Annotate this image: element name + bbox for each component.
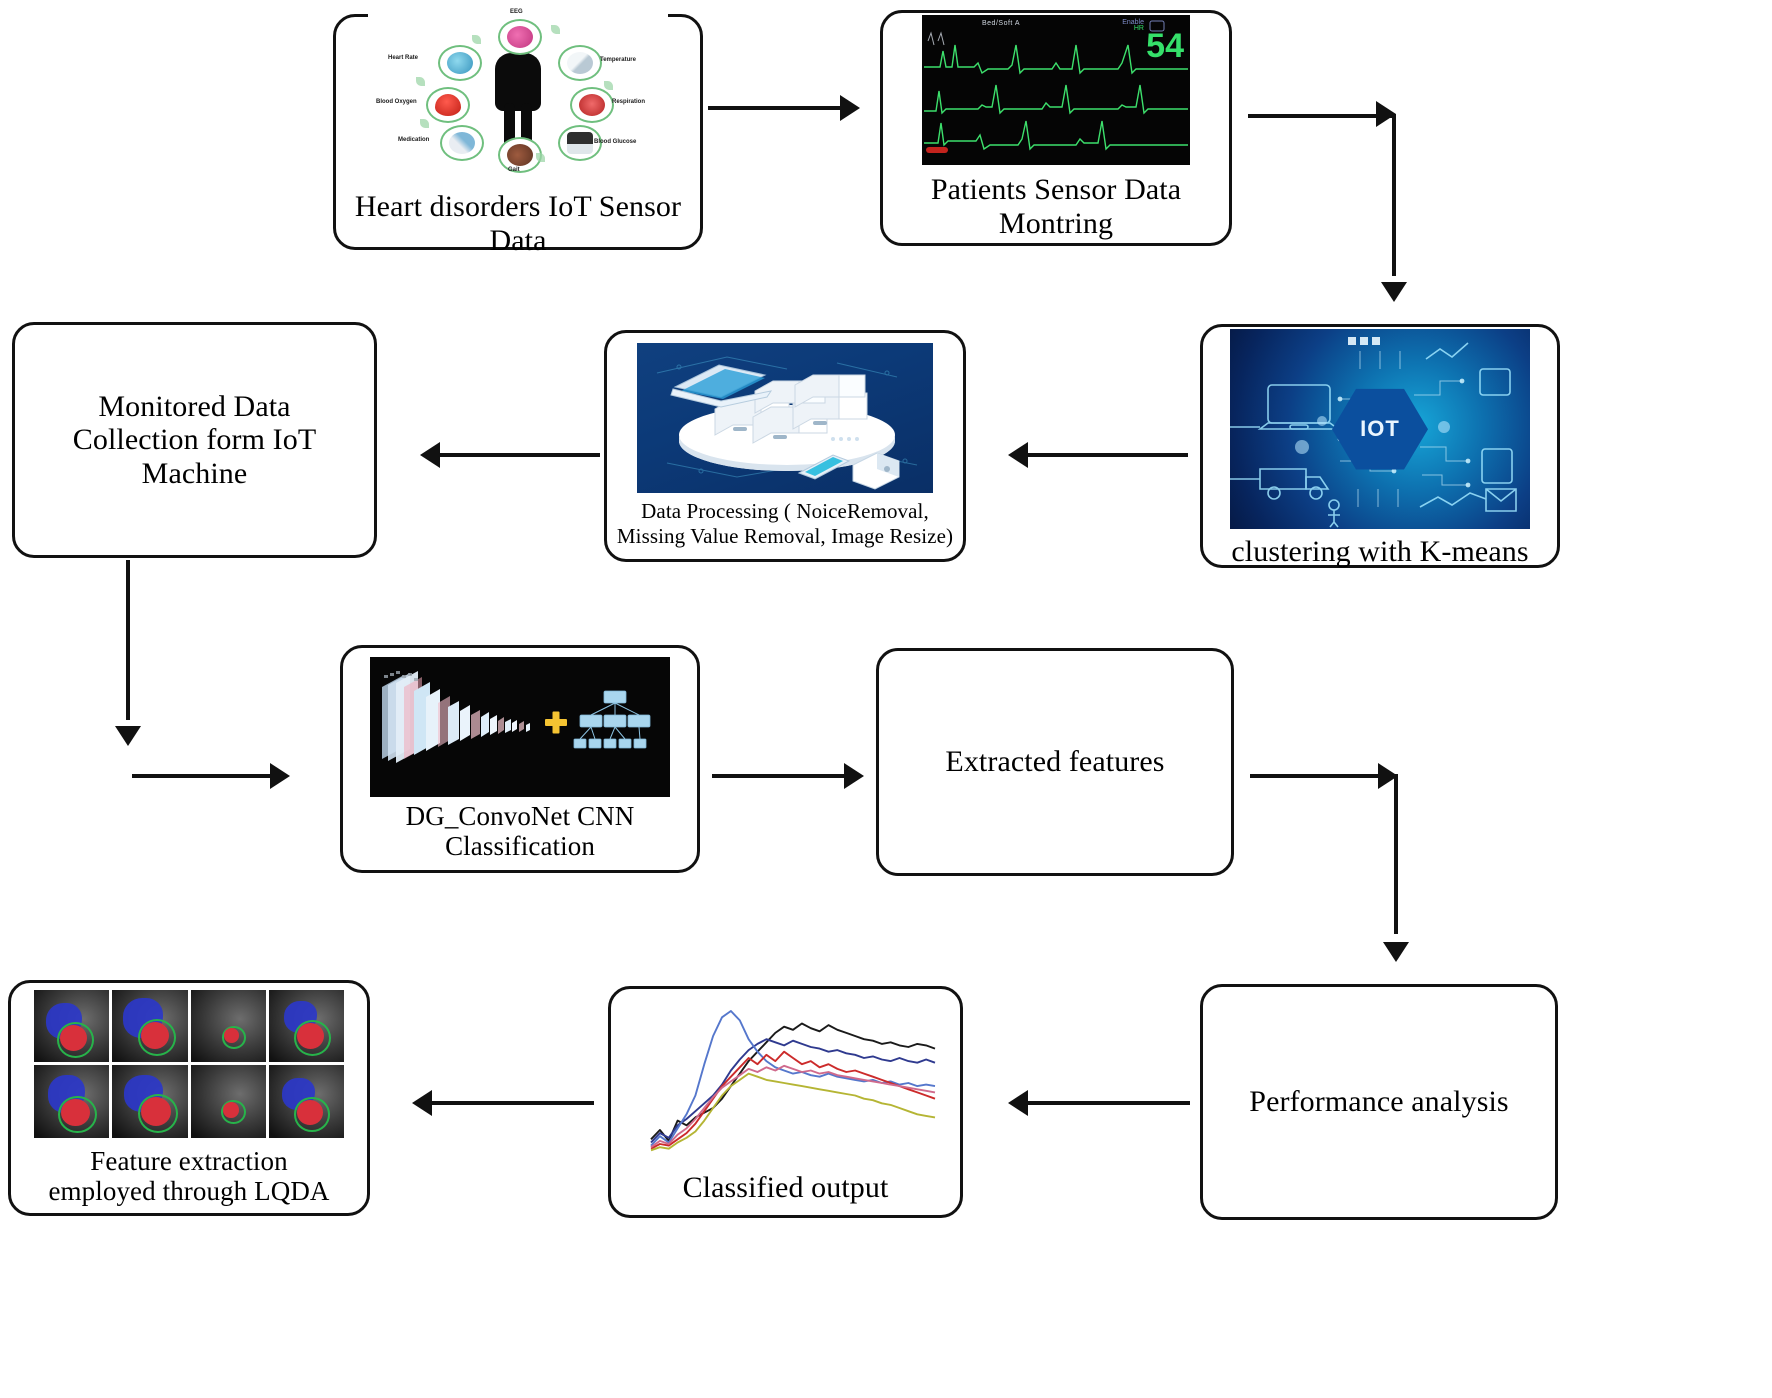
mri-slice — [34, 1065, 109, 1138]
arrow-n8-to-n9 — [1008, 1090, 1190, 1116]
iot-body-sensors-image: EEG Heart Rate Blood Oxygen Medication G… — [368, 7, 668, 182]
iot-circuit-board-image: IOT — [1230, 329, 1530, 529]
node-label-line1: Data Processing ( NoiceRemoval, — [635, 499, 935, 524]
node-clustering-with-kmeans[interactable]: IOT clustering with K-means — [1200, 324, 1560, 568]
sensor-label-respiration: Respiration — [612, 99, 645, 105]
mri-slice — [34, 990, 109, 1063]
sensor-temperature-icon — [558, 45, 602, 81]
node-label-line2: Missing Value Removal, Image Resize) — [611, 524, 959, 549]
mri-slice — [191, 1065, 266, 1138]
cnn-layers-diagram — [370, 657, 670, 797]
sensor-heart-rate-icon — [438, 45, 482, 81]
monitor-alarm-indicator — [926, 147, 948, 153]
node-extracted-features[interactable]: Extracted features — [876, 648, 1234, 876]
sensor-eeg-icon — [498, 19, 542, 55]
leaf-decoration-icon — [472, 35, 481, 44]
node-patients-sensor-data-monitoring[interactable]: Bed/Soft A Enable HR 54 Patients Sensor … — [880, 10, 1232, 246]
node-label-line2: Classification — [439, 831, 601, 861]
leaf-decoration-icon — [420, 119, 429, 128]
cnn-architecture-image — [370, 657, 670, 797]
mri-slice — [112, 990, 187, 1063]
node-monitored-data-collection[interactable]: Monitored Data Collection form IoT Machi… — [12, 322, 377, 558]
node-classified-output[interactable]: Classified output — [608, 986, 963, 1218]
node-label: Extracted features — [939, 745, 1170, 779]
sensor-label-blood-glucose: Blood Glucose — [594, 139, 636, 145]
sensor-label-medication: Medication — [398, 137, 429, 143]
mri-slice — [269, 990, 344, 1063]
leaf-decoration-icon — [551, 25, 560, 34]
sensor-label-blood-oxygen: Blood Oxygen — [376, 99, 417, 105]
node-label-line1: DG_ConvoNet CNN — [400, 801, 641, 831]
sensor-respiration-icon — [570, 87, 614, 123]
sensor-label-temperature: Temperature — [600, 57, 636, 63]
node-label: Patients Sensor Data Montring — [885, 173, 1227, 240]
node-label-line2: employed through LQDA — [42, 1176, 335, 1206]
cardiac-mri-segmentation-image — [34, 990, 344, 1138]
arrow-n5-to-n6-horizontal — [132, 763, 290, 789]
sensor-label-gait: Gait — [508, 167, 520, 173]
sensor-label-heart-rate: Heart Rate — [388, 55, 418, 61]
flowchart-canvas: EEG Heart Rate Blood Oxygen Medication G… — [0, 0, 1772, 1398]
leaf-decoration-icon — [416, 77, 425, 86]
sensor-blood-oxygen-icon — [426, 87, 470, 123]
arrow-n6-to-n7 — [712, 763, 864, 789]
classified-output-line-plot — [621, 999, 951, 1169]
server-platform-illustration — [637, 343, 933, 493]
node-feature-extraction-lqda[interactable]: Feature extraction employed through LQDA — [8, 980, 370, 1216]
node-performance-analysis[interactable]: Performance analysis — [1200, 984, 1558, 1220]
arrow-n3-to-n4 — [1008, 442, 1188, 468]
mri-slice — [191, 990, 266, 1063]
node-label: Classified output — [677, 1171, 895, 1205]
arrow-n2-to-n3-corner-head — [1350, 101, 1396, 127]
node-label-line1: Feature extraction — [84, 1146, 293, 1176]
node-heart-disorders-iot-sensor-data[interactable]: EEG Heart Rate Blood Oxygen Medication G… — [333, 14, 703, 250]
leaf-decoration-icon — [604, 81, 613, 90]
chart-series-series-navy — [651, 1039, 935, 1142]
arrow-n9-to-n10 — [412, 1090, 594, 1116]
ecg-monitor-image: Bed/Soft A Enable HR 54 — [922, 15, 1190, 165]
node-label: Heart disorders IoT Sensor Data — [342, 190, 694, 257]
node-data-processing[interactable]: Data Processing ( NoiceRemoval, Missing … — [604, 330, 966, 562]
node-dg-convonet-cnn-classification[interactable]: DG_ConvoNet CNN Classification — [340, 645, 700, 873]
node-label: Monitored Data Collection form IoT Machi… — [39, 390, 351, 491]
classified-output-chart — [621, 999, 951, 1169]
sensor-medication-icon — [440, 125, 484, 161]
arrow-n4-to-n5 — [420, 442, 600, 468]
arrow-n1-to-n2 — [708, 95, 860, 121]
arrow-n5-to-n6-vertical-head — [115, 690, 141, 746]
mri-slice — [112, 1065, 187, 1138]
arrow-n2-to-n3-head — [1381, 246, 1407, 302]
arrow-n7-to-n8-head — [1383, 906, 1409, 962]
node-label: Performance analysis — [1243, 1085, 1514, 1119]
data-processing-image — [637, 343, 933, 493]
leaf-decoration-icon — [536, 153, 545, 162]
iot-chip-label: IOT — [1360, 416, 1400, 442]
mri-slice — [269, 1065, 344, 1138]
sensor-label-eeg: EEG — [510, 9, 523, 15]
node-label: clustering with K-means — [1225, 535, 1534, 569]
arrow-n7-to-n8-corner-head — [1352, 763, 1398, 789]
ecg-waveform-traces — [922, 15, 1190, 165]
